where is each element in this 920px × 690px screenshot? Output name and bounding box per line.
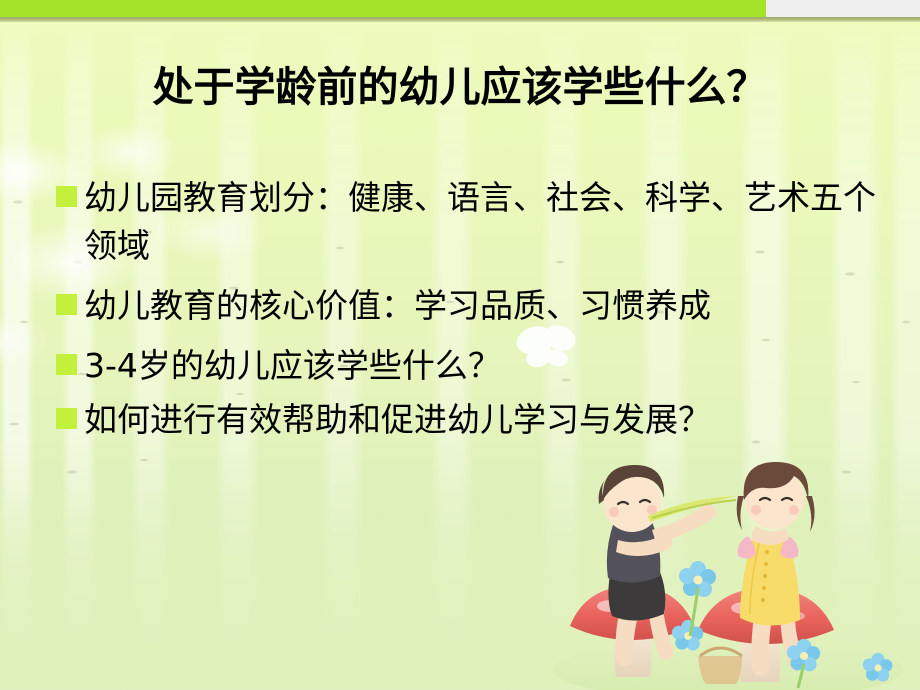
bullet-item-3-text: 3-4岁的幼儿应该学些什么？ [84,342,876,390]
bullet-item-4[interactable]: 如何进行有效帮助和促进幼儿学习与发展？ [56,396,876,444]
top-bar-green-accent [0,0,766,17]
bullet-item-4-text: 如何进行有效帮助和促进幼儿学习与发展？ [84,396,876,444]
square-bullet-icon [56,408,77,429]
slide-canvas: 处于学龄前的幼儿应该学些什么？ 幼儿园教育划分：健康、语言、社会、科学、艺术五个… [0,22,920,690]
two-children-on-mushrooms-illustration [548,460,908,690]
bullet-item-2[interactable]: 幼儿教育的核心价值：学习品质、习惯养成 [56,282,876,330]
bullet-item-1[interactable]: 幼儿园教育划分：健康、语言、社会、科学、艺术五个领域 [56,174,876,270]
square-bullet-icon [56,294,77,315]
square-bullet-icon [56,186,77,207]
slide-body-bullet-list: 幼儿园教育划分：健康、语言、社会、科学、艺术五个领域 幼儿教育的核心价值：学习品… [56,174,876,444]
bullet-item-3[interactable]: 3-4岁的幼儿应该学些什么？ [56,342,876,390]
slide-title: 处于学龄前的幼儿应该学些什么？ [40,64,880,111]
square-bullet-icon [56,354,77,375]
presentation-slide: 处于学龄前的幼儿应该学些什么？ 幼儿园教育划分：健康、语言、社会、科学、艺术五个… [0,0,920,690]
bullet-item-1-text: 幼儿园教育划分：健康、语言、社会、科学、艺术五个领域 [84,174,876,270]
bullet-item-2-text: 幼儿教育的核心价值：学习品质、习惯养成 [84,282,876,330]
